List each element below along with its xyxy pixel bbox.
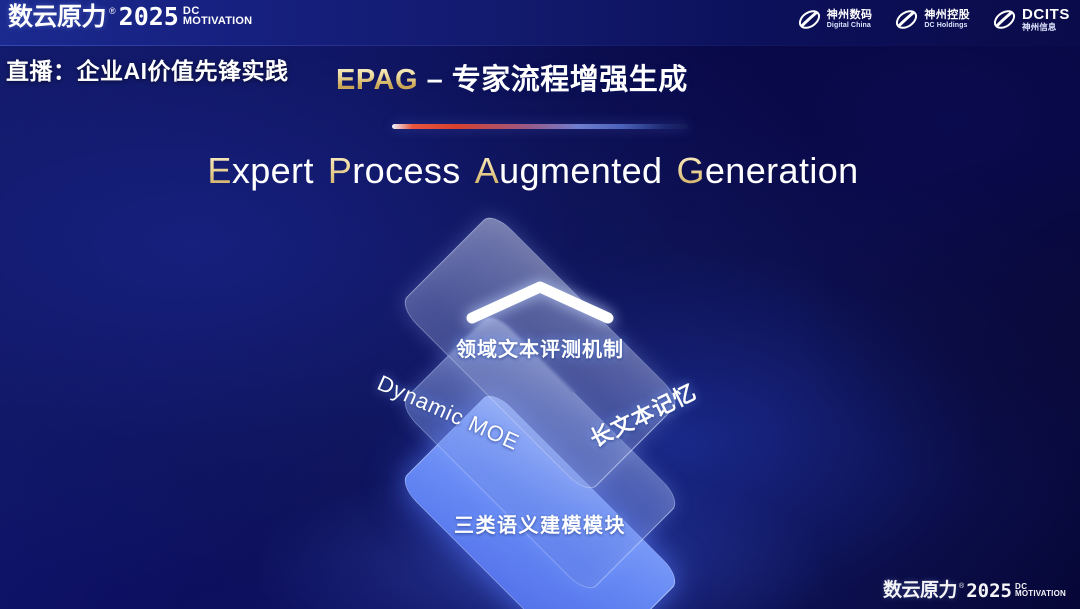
watermark-dc-motivation: DC MOTIVATION <box>1015 581 1066 598</box>
subtitle-rest: eneration <box>705 150 859 191</box>
subtitle-cap: P <box>328 150 352 191</box>
subtitle-word-expert: Expert <box>207 150 313 191</box>
swoosh-icon <box>894 7 919 32</box>
partner-name-en: 神州信息 <box>1022 23 1070 32</box>
page-title: EPAG – 专家流程增强生成 <box>336 56 688 98</box>
partner-name-cn: 神州数码 <box>827 10 873 21</box>
subtitle-word-generation: Generation <box>676 150 858 191</box>
title-divider <box>392 124 688 129</box>
watermark-year: 2025 <box>966 581 1012 601</box>
partner-logo-text: DCITS 神州信息 <box>1022 7 1070 32</box>
brand-year: 2025 <box>119 4 179 30</box>
subtitle-rest: ugmented <box>499 150 662 191</box>
watermark-dc-line2: MOTIVATION <box>1015 590 1066 598</box>
subtitle-word-process: Process <box>328 150 461 191</box>
partner-logo-dc-holdings: 神州控股 DC Holdings <box>894 7 970 32</box>
partner-logo-text: 神州控股 DC Holdings <box>924 10 970 29</box>
partner-name-cn: DCITS <box>1022 7 1070 22</box>
brand-dc-line2: MOTIVATION <box>183 16 252 27</box>
partner-logo-digital-china: 神州数码 Digital China <box>797 7 873 32</box>
brand-registered-mark: ® <box>109 5 116 17</box>
watermark-name-cn: 数云原力 <box>883 581 957 601</box>
swoosh-icon <box>992 7 1017 32</box>
partner-name-en: Digital China <box>827 22 873 29</box>
stack-label-top: 领域文本评测机制 <box>456 333 624 362</box>
subtitle-cap: G <box>676 150 704 191</box>
page-subtitle: ExpertProcessAugmentedGeneration <box>0 150 1080 192</box>
live-stream-label: 直播：企业AI价值先锋实践 <box>6 52 289 86</box>
brand-name-cn: 数云原力 <box>8 4 106 30</box>
subtitle-rest: xpert <box>232 150 314 191</box>
subtitle-word-augmented: Augmented <box>475 150 663 191</box>
partner-logo-text: 神州数码 Digital China <box>827 10 873 29</box>
partner-name-cn: 神州控股 <box>924 10 970 21</box>
watermark-registered-mark: ® <box>959 582 964 591</box>
partner-logo-group: 神州数码 Digital China 神州控股 DC Holdings <box>797 7 1070 32</box>
subtitle-cap: E <box>207 150 231 191</box>
swoosh-icon <box>797 7 822 32</box>
footer-watermark-logo: 数云原力 ® 2025 DC MOTIVATION <box>883 581 1066 601</box>
partner-name-en: DC Holdings <box>924 22 970 29</box>
subtitle-rest: rocess <box>352 150 460 191</box>
title-abbreviation: EPAG <box>336 64 418 96</box>
brand-logo: 数云原力 ® 2025 DC MOTIVATION <box>8 4 252 30</box>
brand-dc-motivation: DC MOTIVATION <box>183 4 252 27</box>
title-chinese: 专家流程增强生成 <box>452 64 688 96</box>
title-dash: – <box>418 64 452 96</box>
subtitle-cap: A <box>475 150 499 191</box>
slide-stage: 数云原力 ® 2025 DC MOTIVATION 直播：企业AI价值先锋实践 … <box>0 0 1080 609</box>
stack-label-bottom: 三类语义建模模块 <box>454 509 626 538</box>
partner-logo-dcits: DCITS 神州信息 <box>992 7 1070 32</box>
